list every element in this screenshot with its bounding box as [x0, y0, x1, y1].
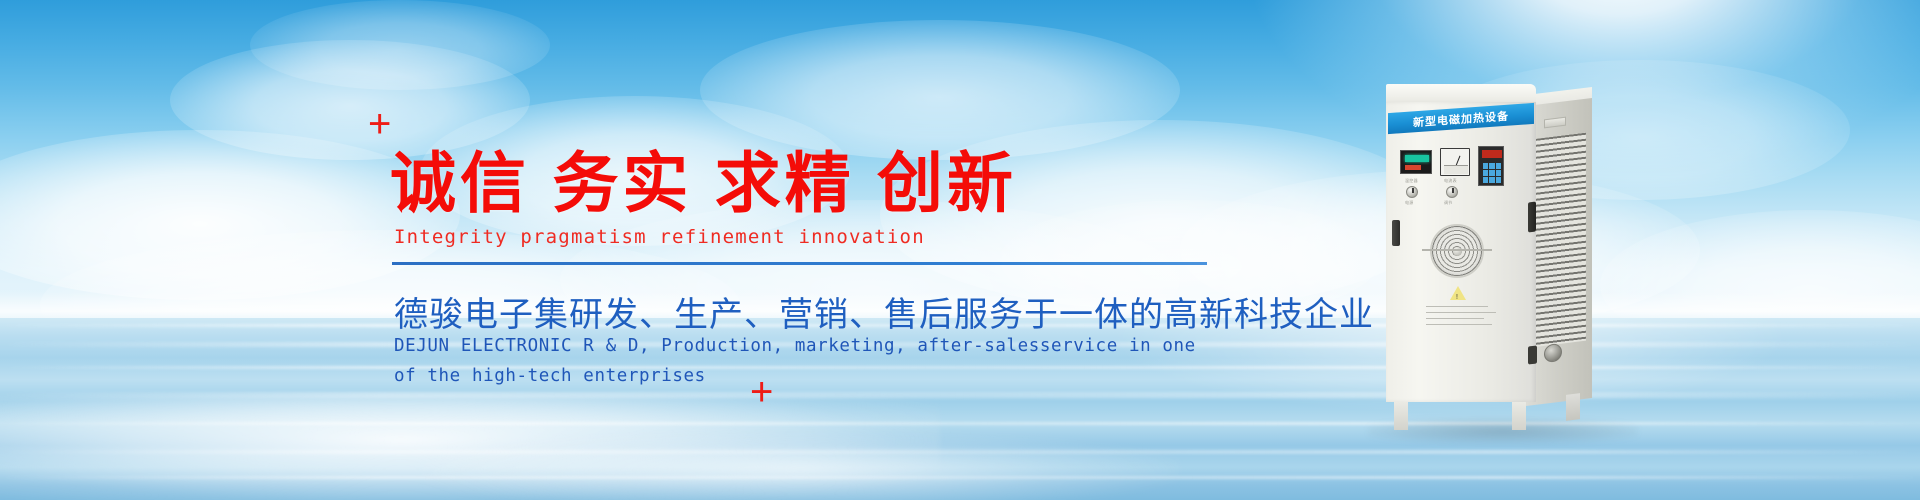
machine-door-handle: [1392, 220, 1400, 246]
machine-label-adjust: 调节: [1444, 200, 1453, 206]
machine-side-handle: [1528, 202, 1536, 233]
machine-analog-meter: [1440, 148, 1470, 176]
machine-power-knob: [1406, 186, 1418, 198]
machine-label-meter: 温控器: [1405, 178, 1418, 184]
machine-foot: [1512, 402, 1526, 430]
machine-cable-port: [1528, 345, 1537, 364]
plus-decoration-icon: +: [750, 372, 773, 412]
subtitle-english-line-1: DEJUN ELECTRONIC R & D, Production, mark…: [394, 336, 1196, 356]
machine-product-label-text: 新型电磁加热设备: [1413, 107, 1509, 130]
warning-text-line: [1426, 324, 1492, 325]
keypad-key: [1483, 163, 1488, 169]
warning-text-line: [1426, 318, 1484, 319]
keypad-key: [1496, 177, 1501, 183]
machine-adjust-knob: [1446, 186, 1458, 198]
machine-foot: [1566, 393, 1580, 421]
machine-side-vents: [1532, 133, 1586, 348]
keypad-key: [1496, 170, 1501, 176]
keypad-key: [1483, 177, 1488, 183]
keypad-key: [1489, 170, 1494, 176]
machine-foot: [1394, 402, 1408, 430]
machine-keypad-buttons: [1483, 163, 1501, 183]
machine-label-ammeter: 电流表: [1444, 178, 1457, 184]
subtitle-english-line-2: of the high-tech enterprises: [394, 366, 706, 386]
keypad-key: [1489, 163, 1494, 169]
divider-rule: [392, 262, 1207, 265]
machine-temperature-controller: [1400, 150, 1432, 174]
machine-keypad-module: [1478, 146, 1504, 186]
hero-banner: + 诚信 务实 求精 创新 Integrity pragmatism refin…: [0, 0, 1920, 500]
headline-chinese: 诚信 务实 求精 创新: [390, 130, 1017, 226]
product-image-heating-equipment: 新型电磁加热设备 温控器 电流表 电源 调节: [1378, 78, 1618, 430]
keypad-key: [1483, 170, 1488, 176]
warning-text-line: [1426, 306, 1488, 307]
plus-decoration-icon: +: [368, 104, 391, 144]
subtitle-chinese: 德骏电子集研发、生产、营销、售后服务于一体的高新科技企业: [394, 287, 1374, 336]
warning-exclamation-icon: !: [1456, 294, 1458, 301]
machine-meter-needle: [1455, 156, 1460, 168]
banner-copy-block: + 诚信 务实 求精 创新 Integrity pragmatism refin…: [0, 0, 1250, 500]
keypad-key: [1489, 177, 1494, 183]
machine-fan-grille: [1430, 224, 1484, 278]
keypad-key: [1496, 163, 1501, 169]
machine-fan-bracket: [1422, 249, 1492, 251]
warning-text-line: [1426, 312, 1496, 313]
machine-keypad-display: [1482, 150, 1502, 158]
warning-triangle-icon: [1450, 286, 1466, 300]
machine-label-power: 电源: [1405, 200, 1414, 206]
machine-warning-text-block: [1426, 306, 1502, 330]
headline-english: Integrity pragmatism refinement innovati…: [394, 226, 925, 248]
